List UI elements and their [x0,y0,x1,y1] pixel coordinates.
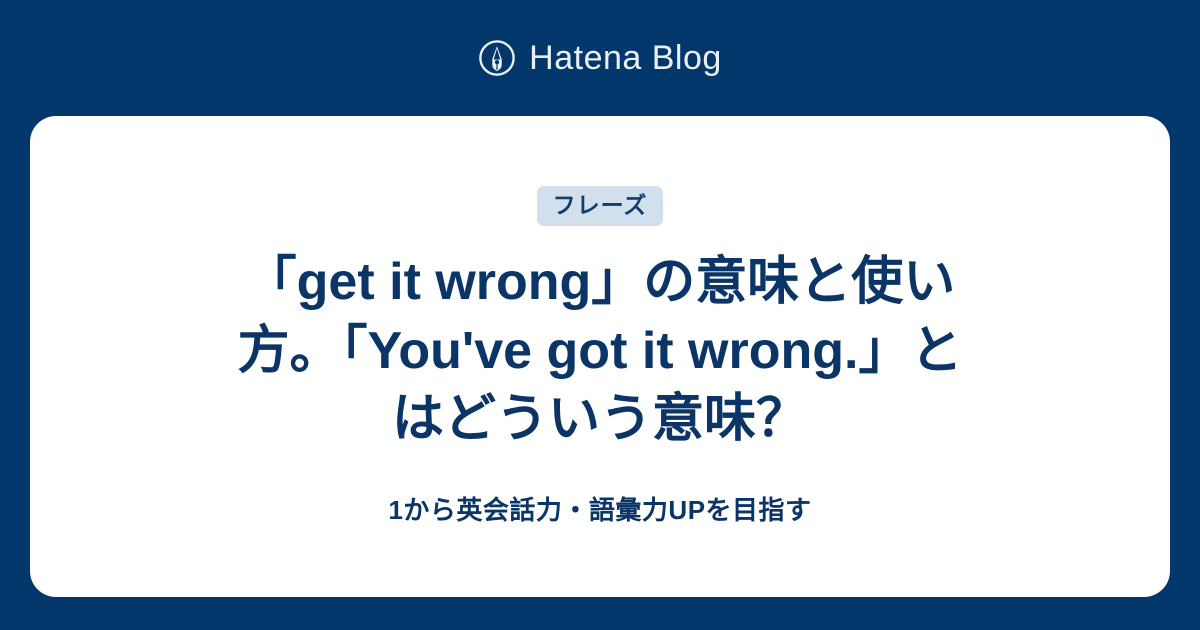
og-image-canvas: Hatena Blog フレーズ 「get it wrong」の意味と使い方。「… [0,0,1200,630]
entry-card: フレーズ 「get it wrong」の意味と使い方。「You've got i… [30,116,1170,597]
entry-title: 「get it wrong」の意味と使い方。「You've got it wro… [220,248,980,454]
blog-subtitle: 1から英会話力・語彙力UPを目指す [388,494,811,528]
category-tag-badge[interactable]: フレーズ [537,186,664,226]
hatena-pen-nib-icon [478,39,516,77]
brand-name: Hatena Blog [529,41,722,75]
brand-header: Hatena Blog [0,0,1200,116]
tag-row: フレーズ [90,186,1110,226]
